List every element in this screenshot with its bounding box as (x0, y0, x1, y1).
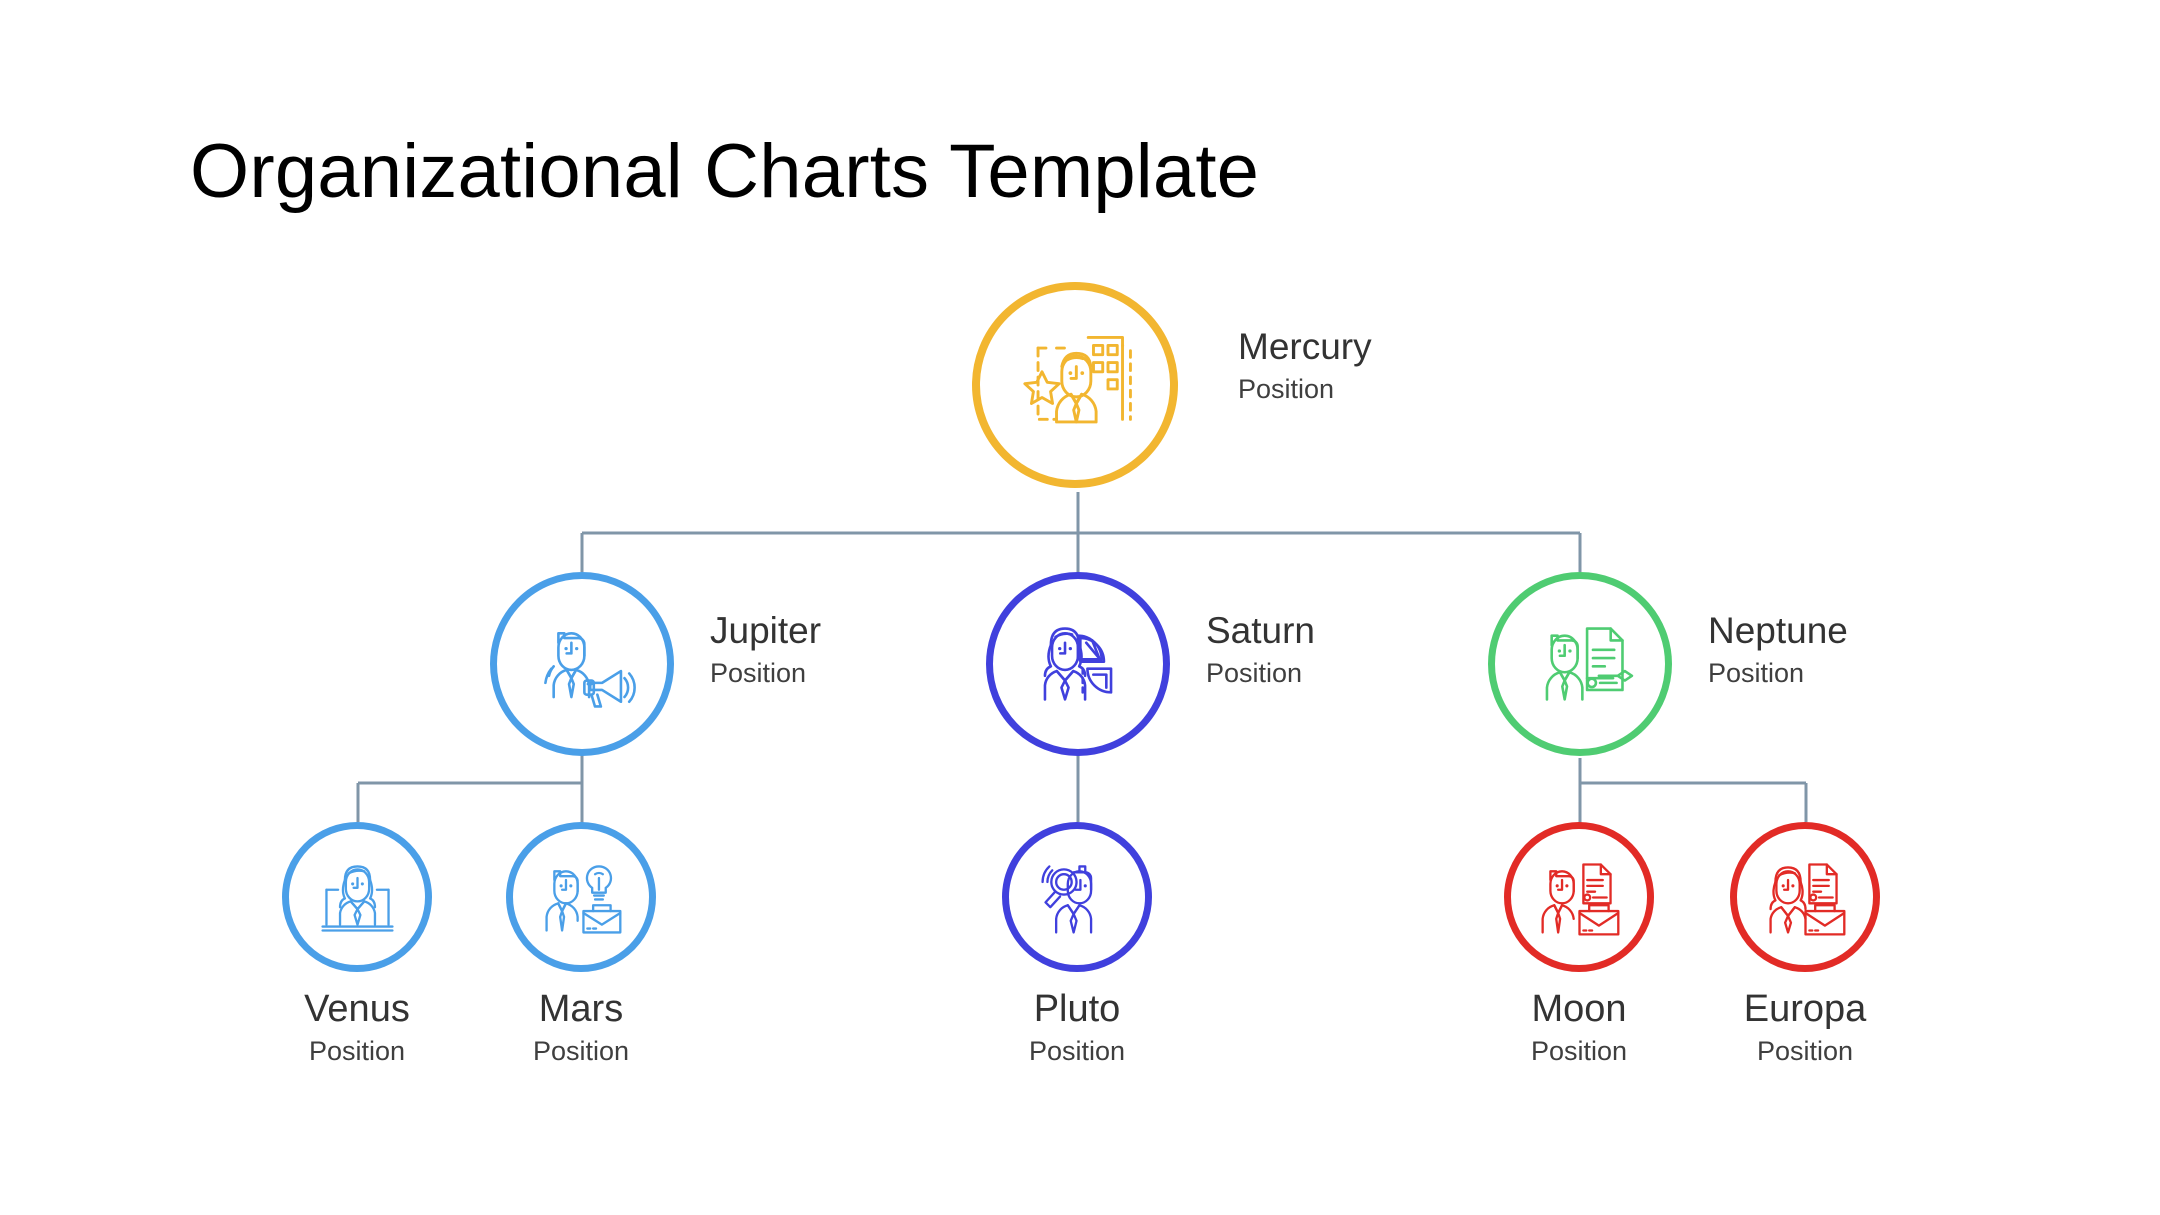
businessman-magnifier-icon (1029, 849, 1126, 946)
europa-label: Europa Position (1650, 988, 1960, 1067)
mercury-avatar-ring (972, 282, 1178, 488)
businessman-document-briefcase-icon (1531, 849, 1628, 946)
slide-canvas: Organizational Charts Template (0, 0, 2160, 1215)
neptune-position: Position (1708, 657, 1848, 689)
neptune-avatar-ring (1488, 572, 1672, 756)
mars-label: Mars Position (426, 988, 736, 1067)
saturn-name: Saturn (1206, 610, 1315, 651)
businesswoman-piechart-icon (1019, 605, 1137, 723)
pluto-label: Pluto Position (922, 988, 1232, 1067)
venus-avatar-ring (282, 822, 432, 972)
europa-position: Position (1650, 1035, 1960, 1067)
pluto-position: Position (922, 1035, 1232, 1067)
businesswoman-laptop-icon (309, 849, 406, 946)
jupiter-position: Position (710, 657, 821, 689)
europa-avatar-ring (1730, 822, 1880, 972)
page-title: Organizational Charts Template (190, 132, 1259, 212)
jupiter-avatar-ring (490, 572, 674, 756)
moon-avatar-ring (1504, 822, 1654, 972)
neptune-label: Neptune Position (1708, 610, 1848, 690)
businessman-megaphone-icon (523, 605, 641, 723)
mercury-name: Mercury (1238, 326, 1372, 367)
saturn-position: Position (1206, 657, 1315, 689)
jupiter-name: Jupiter (710, 610, 821, 651)
mercury-position: Position (1238, 373, 1372, 405)
saturn-label: Saturn Position (1206, 610, 1315, 690)
businessman-document-pen-icon (1521, 605, 1639, 723)
neptune-name: Neptune (1708, 610, 1848, 651)
pluto-avatar-ring (1002, 822, 1152, 972)
businessman-lightbulb-briefcase-icon (533, 849, 630, 946)
europa-name: Europa (1650, 988, 1960, 1031)
pluto-name: Pluto (922, 988, 1232, 1031)
mercury-label: Mercury Position (1238, 326, 1372, 406)
mars-avatar-ring (506, 822, 656, 972)
mars-name: Mars (426, 988, 736, 1031)
businesswoman-document-briefcase-icon (1757, 849, 1854, 946)
mars-position: Position (426, 1035, 736, 1067)
businessman-building-star-icon (1009, 319, 1141, 451)
saturn-avatar-ring (986, 572, 1170, 756)
jupiter-label: Jupiter Position (710, 610, 821, 690)
